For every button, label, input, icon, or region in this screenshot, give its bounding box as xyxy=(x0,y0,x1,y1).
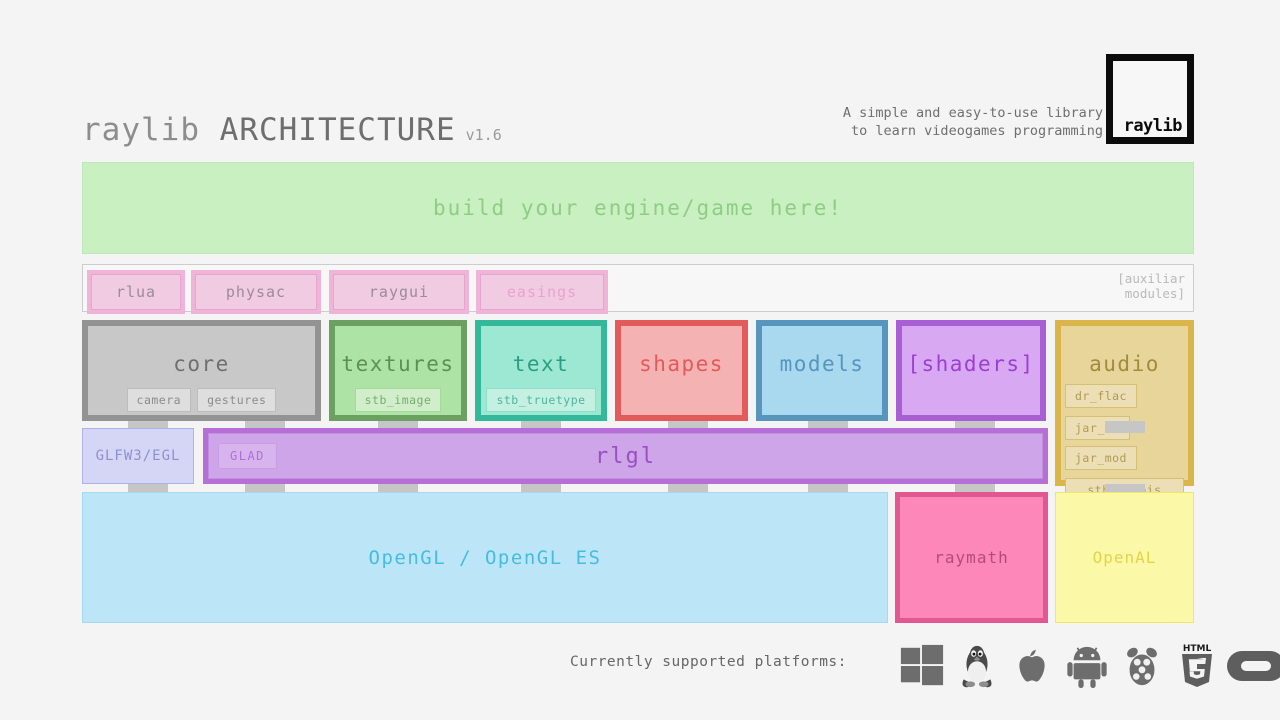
module-label: audio xyxy=(1089,352,1160,376)
auxiliar-modules-strip: [auxiliar modules] rluaphysacrayguieasin… xyxy=(82,264,1194,312)
linux-icon xyxy=(951,640,1003,692)
openal-box: OpenAL xyxy=(1055,492,1194,623)
aux-module-label: easings xyxy=(507,283,577,301)
windows-icon xyxy=(896,640,948,692)
module-shapes[interactable]: shapes xyxy=(615,320,748,421)
module-inner: shapes xyxy=(621,326,742,415)
aux-module-physac[interactable]: physac xyxy=(191,270,321,314)
user-game-layer: build your engine/game here! xyxy=(82,162,1194,254)
connector-stub xyxy=(1105,421,1145,433)
raylib-logo-text: raylib xyxy=(1124,116,1182,136)
auxiliar-modules-label: [auxiliar modules] xyxy=(1117,271,1185,301)
title-architecture: ARCHITECTURE xyxy=(220,112,456,148)
supported-platforms-label: Currently supported platforms: xyxy=(570,654,847,670)
svg-text:HTML: HTML xyxy=(1183,644,1212,654)
opengl-box: OpenGL / OpenGL ES xyxy=(82,492,888,623)
glfw3-egl-box: GLFW3/EGL xyxy=(82,428,194,484)
aux-module-label: raygui xyxy=(369,283,429,301)
module-inner: audiodr_flacjar_xmjar_modstb_vorbis xyxy=(1061,326,1188,480)
tagline: A simple and easy-to-use library to lear… xyxy=(763,104,1103,140)
user-game-layer-label: build your engine/game here! xyxy=(433,196,843,220)
submodule-gestures[interactable]: gestures xyxy=(197,388,276,412)
raspberrypi-icon xyxy=(1116,640,1168,692)
raymath-label: raymath xyxy=(934,548,1008,567)
module-label: models xyxy=(780,352,865,376)
rlgl-inner: rlgl GLAD xyxy=(208,433,1043,479)
module-audio[interactable]: audiodr_flacjar_xmjar_modstb_vorbis xyxy=(1055,320,1194,486)
module-shaders[interactable]: [shaders] xyxy=(896,320,1046,421)
auxiliar-modules-label-line-2: modules] xyxy=(1117,286,1185,301)
oculus-icon xyxy=(1226,640,1280,692)
module-label: text xyxy=(513,352,570,376)
aux-module-easings[interactable]: easings xyxy=(476,270,608,314)
module-label: [shaders] xyxy=(907,352,1034,376)
submodule-row: stb_truetype xyxy=(486,388,595,412)
page-title: raylib ARCHITECTUREv1.6 xyxy=(82,112,502,148)
module-inner: models xyxy=(762,326,882,415)
auxiliar-modules-label-line-1: [auxiliar xyxy=(1117,271,1185,286)
aux-module-inner: raygui xyxy=(333,274,465,310)
rlgl-label: rlgl xyxy=(595,444,656,469)
openal-label: OpenAL xyxy=(1093,548,1157,567)
submodule-stb_image[interactable]: stb_image xyxy=(355,388,442,412)
module-inner: texturesstb_image xyxy=(335,326,461,415)
raylib-logo: raylib xyxy=(1106,54,1194,144)
raymath-inner: raymath xyxy=(900,497,1043,618)
tagline-line-1: A simple and easy-to-use library xyxy=(763,104,1103,122)
module-label: core xyxy=(173,352,230,376)
aux-module-label: rlua xyxy=(116,283,156,301)
aux-module-inner: physac xyxy=(195,274,317,310)
aux-module-inner: easings xyxy=(480,274,604,310)
architecture-diagram: raylib ARCHITECTUREv1.6 A simple and eas… xyxy=(0,0,1280,720)
aux-module-rlua[interactable]: rlua xyxy=(87,270,185,314)
android-icon xyxy=(1061,640,1113,692)
module-text[interactable]: textstb_truetype xyxy=(475,320,607,421)
submodule-camera[interactable]: camera xyxy=(127,388,192,412)
raymath-box: raymath xyxy=(895,492,1048,623)
glfw3-egl-label: GLFW3/EGL xyxy=(96,448,181,464)
module-core[interactable]: corecameragestures xyxy=(82,320,321,421)
module-models[interactable]: models xyxy=(756,320,888,421)
apple-icon xyxy=(1006,640,1058,692)
module-inner: corecameragestures xyxy=(88,326,315,415)
module-label: textures xyxy=(341,352,454,376)
title-raylib: raylib xyxy=(82,112,200,148)
submodule-dr_flac[interactable]: dr_flac xyxy=(1065,384,1137,408)
version-label: v1.6 xyxy=(466,126,502,144)
module-inner: textstb_truetype xyxy=(481,326,601,415)
module-label: shapes xyxy=(639,352,724,376)
html5-icon: HTML xyxy=(1171,640,1223,692)
opengl-label: OpenGL / OpenGL ES xyxy=(369,547,602,569)
module-textures[interactable]: texturesstb_image xyxy=(329,320,467,421)
rlgl-box: rlgl GLAD xyxy=(203,428,1048,484)
aux-module-label: physac xyxy=(226,283,286,301)
aux-module-raygui[interactable]: raygui xyxy=(329,270,469,314)
submodule-stb_truetype[interactable]: stb_truetype xyxy=(486,388,595,412)
tagline-line-2: to learn videogames programming xyxy=(763,122,1103,140)
glad-box: GLAD xyxy=(218,443,277,469)
submodule-row: cameragestures xyxy=(127,388,277,412)
submodule-row: stb_image xyxy=(355,388,442,412)
module-inner: [shaders] xyxy=(902,326,1040,415)
aux-module-inner: rlua xyxy=(91,274,181,310)
submodule-jar_mod[interactable]: jar_mod xyxy=(1065,446,1137,470)
platform-icons: HTML xyxy=(896,640,1280,692)
footer: Currently supported platforms: xyxy=(0,640,1280,700)
